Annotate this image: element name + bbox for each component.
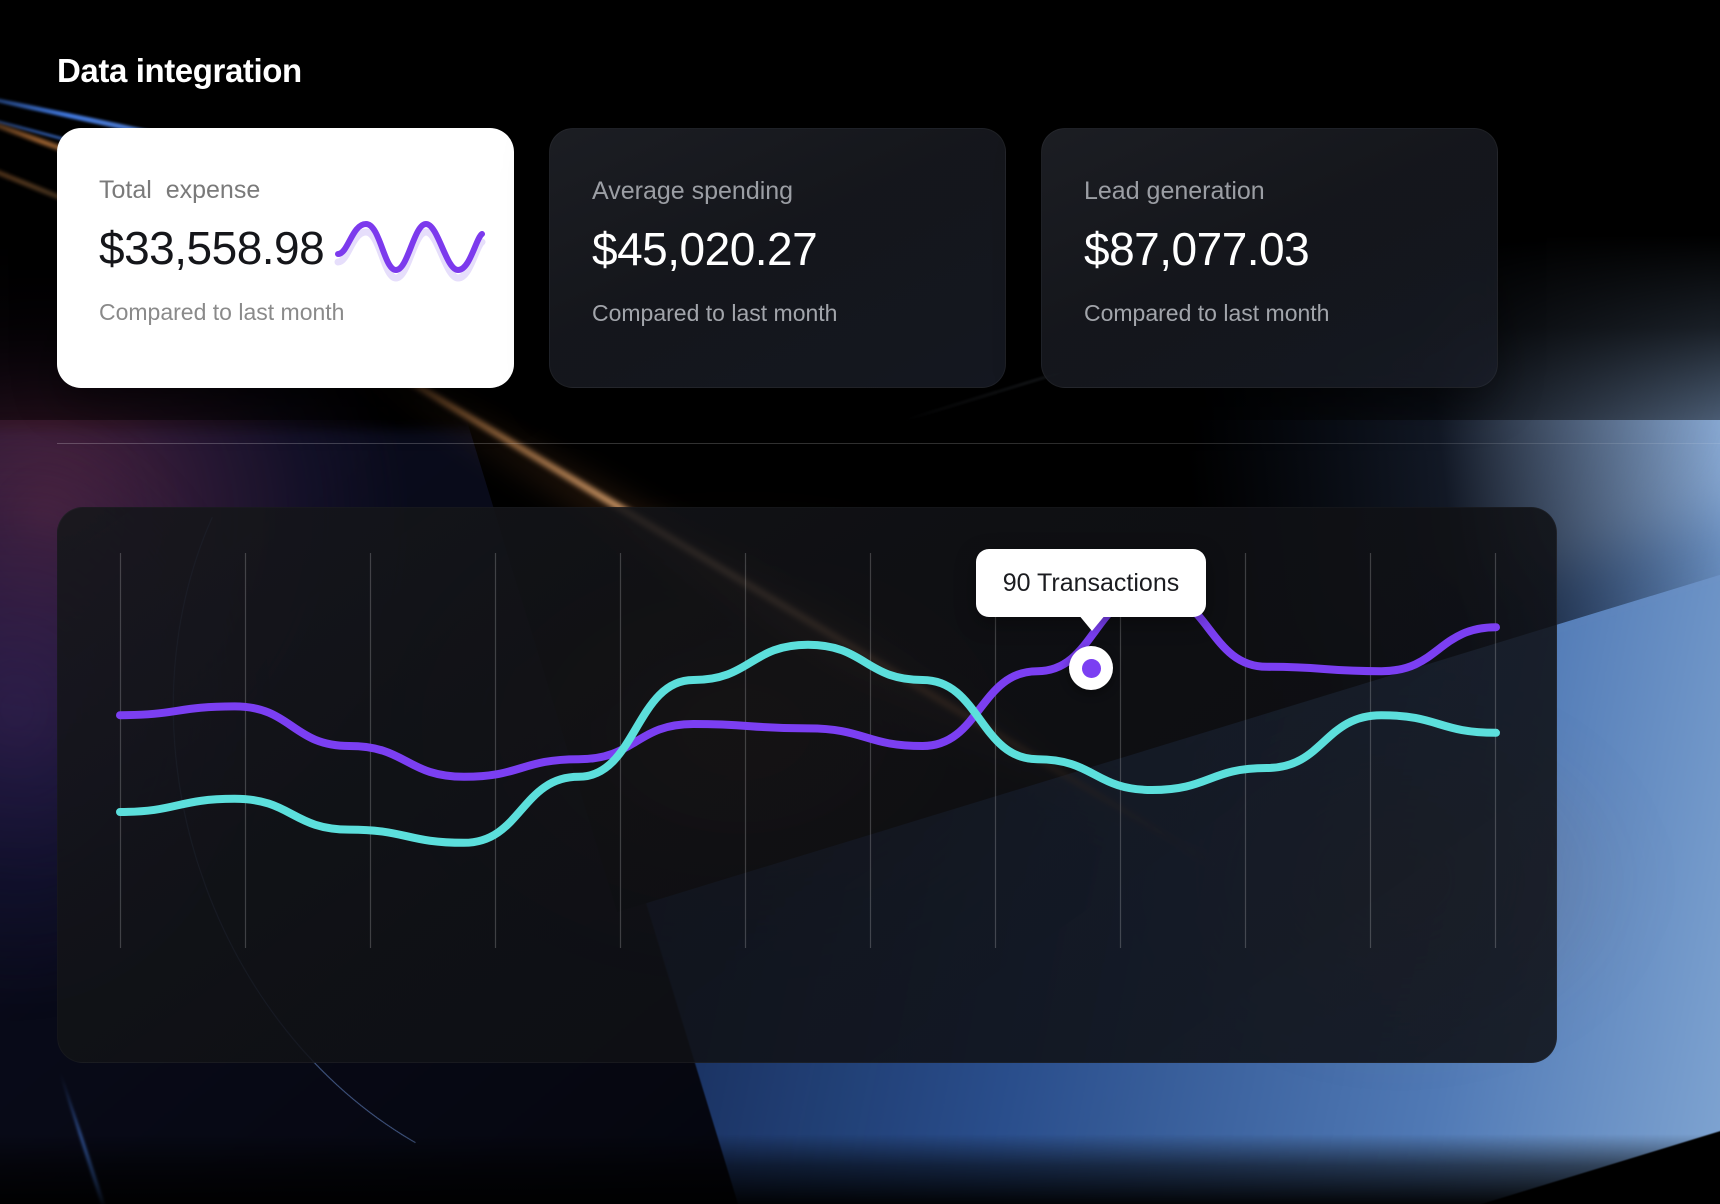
stat-card-label: Total expense [99, 178, 514, 203]
page-title: Data integration [57, 52, 302, 90]
stat-card-lead-generation[interactable]: Lead generation $87,077.03 Compared to l… [1041, 128, 1498, 388]
chart-tooltip-label: 90 Transactions [1003, 569, 1180, 598]
chart-tooltip[interactable]: 90 Transactions [976, 549, 1206, 617]
stat-card-subtitle: Compared to last month [592, 302, 1005, 325]
stat-card-average-spending[interactable]: Average spending $45,020.27 Compared to … [549, 128, 1006, 388]
chart-gridlines [121, 553, 1496, 948]
stat-card-label: Lead generation [1084, 179, 1497, 204]
stat-card-value: $87,077.03 [1084, 226, 1497, 272]
section-divider [57, 443, 1720, 444]
stat-card-subtitle: Compared to last month [1084, 302, 1497, 325]
chart-data-point-dot [1082, 659, 1101, 678]
stat-card-label: Average spending [592, 179, 1005, 204]
sine-wave-sparkline-icon [334, 220, 486, 290]
chart-line-transactions [120, 592, 1496, 777]
chart-tooltip-arrow [1078, 614, 1106, 631]
line-chart[interactable] [58, 508, 1556, 1062]
stat-card-total-expense[interactable]: Total expense $33,558.98 Compared to las… [57, 128, 514, 388]
chart-series [120, 592, 1496, 843]
transactions-chart-panel[interactable]: Sep Oct Nov Dec Jan Feb Mar Apr may Jun … [57, 507, 1557, 1063]
stat-card-subtitle: Compared to last month [99, 301, 514, 324]
chart-data-point-marker[interactable] [1069, 646, 1113, 690]
stat-card-value: $45,020.27 [592, 226, 1005, 272]
stat-card-list: Total expense $33,558.98 Compared to las… [57, 128, 1498, 388]
